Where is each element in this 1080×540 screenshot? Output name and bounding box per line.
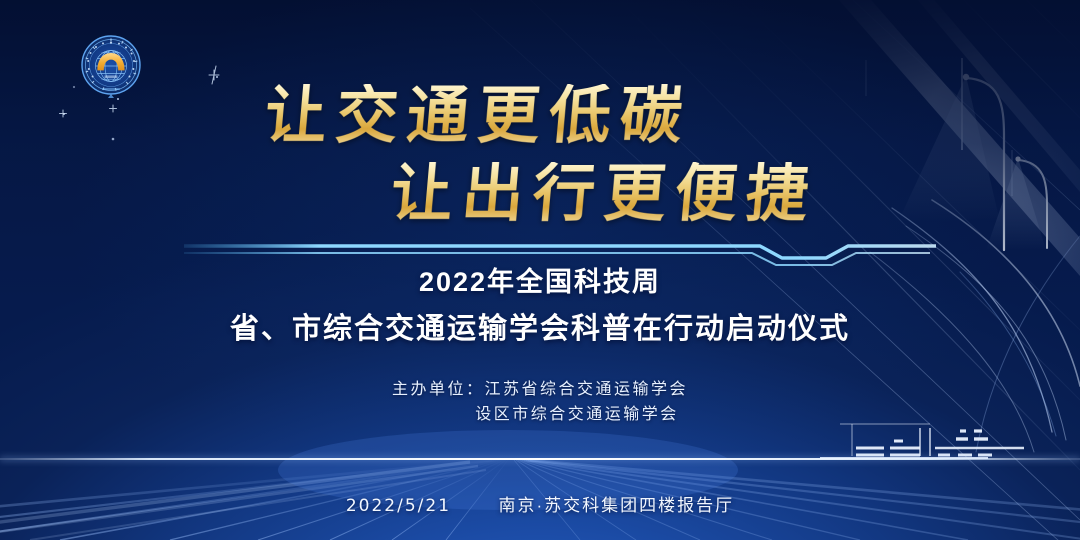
main-title-line-1: 让交通更低碳 — [0, 84, 1080, 148]
cyan-divider-rule — [0, 236, 1080, 268]
main-title-line-2: 让出行更便捷 — [125, 162, 1080, 226]
organizer-line-2: 设区市综合交通运输学会 — [0, 403, 1080, 428]
main-title: 让交通更低碳 让出行更便捷 — [0, 84, 1080, 227]
subtitle-primary: 2022年全国科技周 — [0, 266, 1080, 300]
organizer-block: 主办单位：江苏省综合交通运输学会 设区市综合交通运输学会 — [0, 378, 1080, 428]
event-venue: 南京·苏交科集团四楼报告厅 — [498, 496, 734, 515]
event-banner: 让交通更低碳 让出行更便捷 2022年全国科技周 省、市综合交通运输学会科普在行… — [0, 0, 1080, 540]
subtitle-block: 2022年全国科技周 省、市综合交通运输学会科普在行动启动仪式 — [0, 266, 1080, 347]
footer-bar: 2022/5/21 南京·苏交科集团四楼报告厅 — [0, 491, 1080, 516]
organizer-line-1: 主办单位：江苏省综合交通运输学会 — [0, 378, 1080, 403]
subtitle-secondary: 省、市综合交通运输学会科普在行动启动仪式 — [0, 311, 1080, 347]
event-date: 2022/5/21 — [346, 496, 451, 516]
